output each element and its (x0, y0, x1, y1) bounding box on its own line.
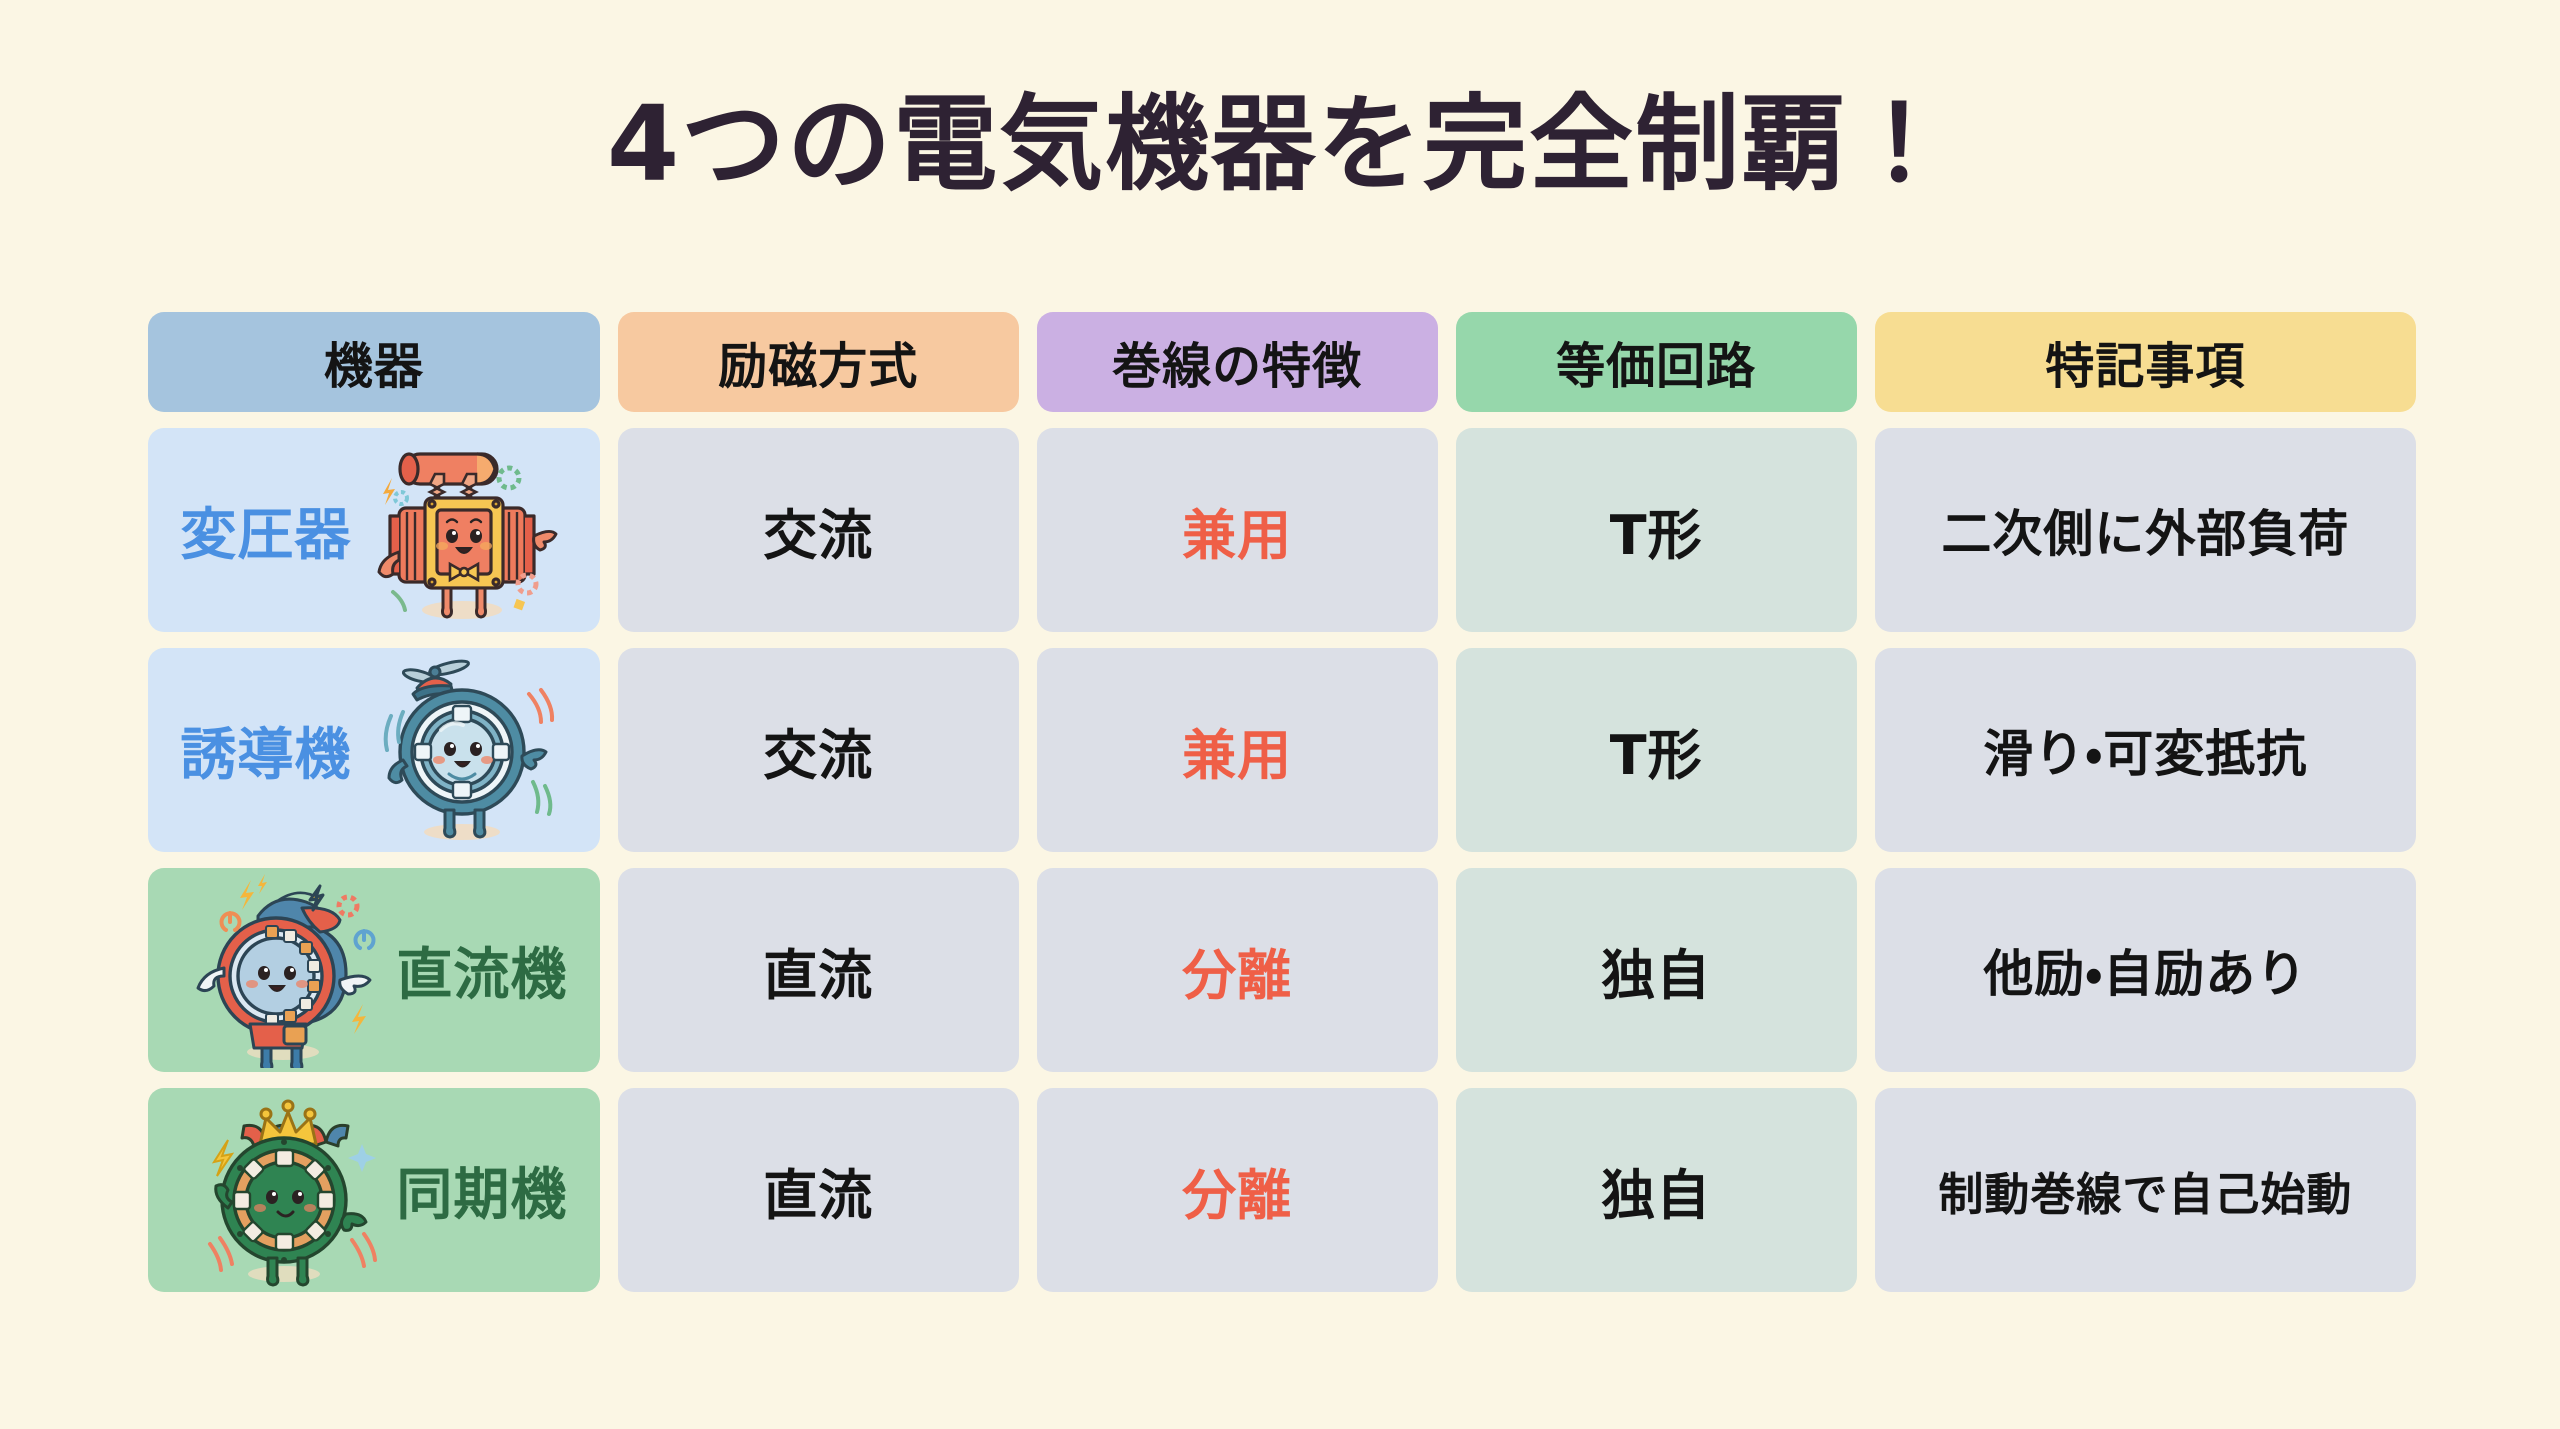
cell-excitation: 直流 (618, 1088, 1019, 1292)
header-cell-note: 特記事項 (1875, 312, 2416, 412)
cell-device-transformer: 変圧器 (148, 428, 600, 632)
cell-circuit: T形 (1456, 428, 1857, 632)
page-title: 4つの電気機器を完全制覇！ (0, 92, 2560, 196)
cell-winding: 分離 (1037, 1088, 1438, 1292)
winding-value: 分離 (1182, 1151, 1292, 1230)
comparison-table: 機器 励磁方式 巻線の特徴 等価回路 特記事項 変圧器 (148, 312, 2416, 1292)
header-cell-winding: 巻線の特徴 (1037, 312, 1438, 412)
header-cell-excitation: 励磁方式 (618, 312, 1019, 412)
note-value: 他励・自励あり (1983, 934, 2307, 1006)
device-name-label: 直流機 (396, 930, 567, 1011)
cell-device-dc: 直流機 (148, 868, 600, 1072)
cell-winding: 兼用 (1037, 648, 1438, 852)
table-row: 誘導機 (148, 648, 2416, 852)
circuit-value: T形 (1610, 711, 1703, 790)
cell-note: 制動巻線で自己始動 (1875, 1088, 2416, 1292)
device-name-label: 誘導機 (180, 710, 351, 791)
excitation-value: 交流 (763, 711, 873, 790)
header-cell-device: 機器 (148, 312, 600, 412)
transformer-mascot-icon (357, 432, 567, 628)
cell-note: 二次側に外部負荷 (1875, 428, 2416, 632)
device-name-label: 変圧器 (180, 490, 351, 571)
table-header-row: 機器 励磁方式 巻線の特徴 等価回路 特記事項 (148, 312, 2416, 412)
cell-note: 他励・自励あり (1875, 868, 2416, 1072)
winding-value: 兼用 (1182, 491, 1292, 570)
winding-value: 兼用 (1182, 711, 1292, 790)
header-label-excitation: 励磁方式 (718, 327, 918, 398)
note-value: 二次側に外部負荷 (1941, 494, 2349, 566)
excitation-value: 交流 (763, 491, 873, 570)
excitation-value: 直流 (763, 1151, 873, 1230)
cell-circuit: 独自 (1456, 1088, 1857, 1292)
induction-motor-mascot-icon (357, 652, 567, 848)
cell-excitation: 直流 (618, 868, 1019, 1072)
device-name-label: 同期機 (396, 1150, 567, 1231)
excitation-value: 直流 (763, 931, 873, 1010)
cell-circuit: 独自 (1456, 868, 1857, 1072)
note-value: 滑り・可変抵抗 (1983, 714, 2307, 786)
cell-device-induction: 誘導機 (148, 648, 600, 852)
note-value: 制動巻線で自己始動 (1938, 1158, 2352, 1223)
cell-winding: 分離 (1037, 868, 1438, 1072)
cell-winding: 兼用 (1037, 428, 1438, 632)
cell-device-synchronous: 同期機 (148, 1088, 600, 1292)
table-row: 直流機 (148, 868, 2416, 1072)
header-cell-circuit: 等価回路 (1456, 312, 1857, 412)
cell-excitation: 交流 (618, 428, 1019, 632)
cell-note: 滑り・可変抵抗 (1875, 648, 2416, 852)
circuit-value: T形 (1610, 491, 1703, 570)
synchronous-machine-mascot-icon (180, 1092, 390, 1288)
circuit-value: 独自 (1601, 1151, 1711, 1230)
winding-value: 分離 (1182, 931, 1292, 1010)
header-label-note: 特記事項 (2045, 327, 2245, 398)
header-label-circuit: 等価回路 (1556, 327, 1756, 398)
slide-page: 4つの電気機器を完全制覇！ 機器 励磁方式 巻線の特徴 等価回路 特記事項 (0, 0, 2560, 1429)
circuit-value: 独自 (1601, 931, 1711, 1010)
header-label-device: 機器 (324, 327, 424, 398)
table-row: 変圧器 (148, 428, 2416, 632)
table-row: 同期機 (148, 1088, 2416, 1292)
header-label-winding: 巻線の特徴 (1112, 327, 1362, 398)
cell-excitation: 交流 (618, 648, 1019, 852)
cell-circuit: T形 (1456, 648, 1857, 852)
dc-machine-mascot-icon (180, 872, 390, 1068)
